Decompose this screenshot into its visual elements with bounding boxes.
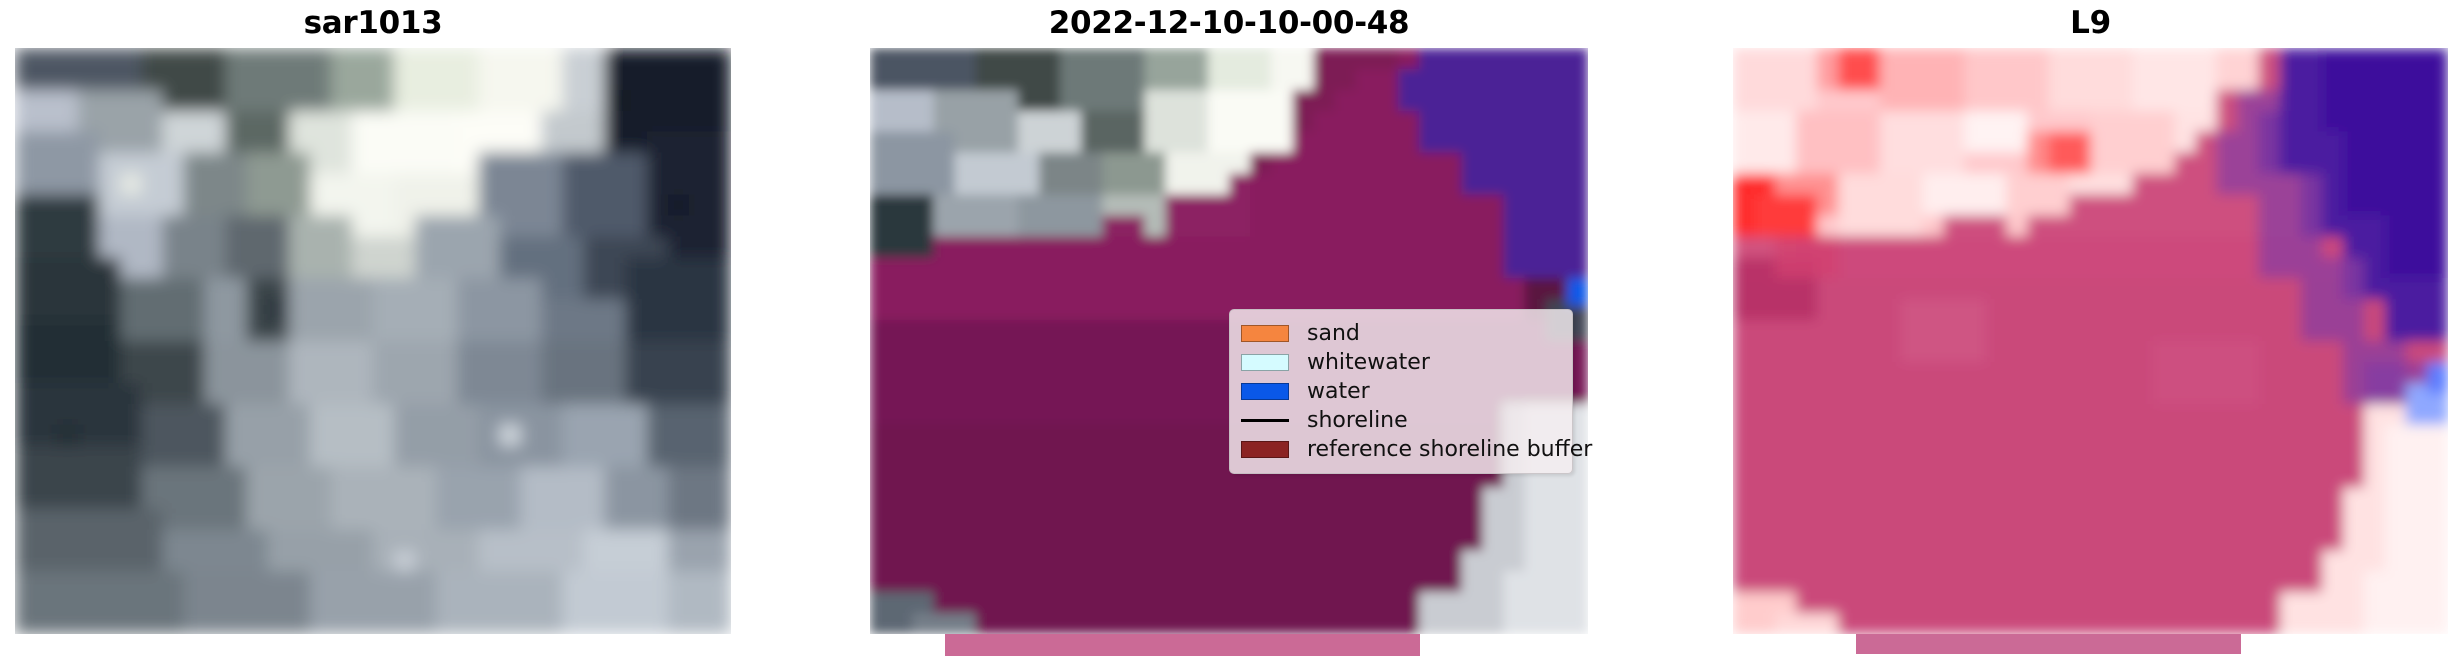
panel-classified: 2022-12-10-10-00-48 — [870, 0, 1588, 664]
panel-title-sar1013: sar1013 — [15, 5, 731, 41]
legend-label-reference-shoreline-buffer: reference shoreline buffer — [1307, 437, 1592, 463]
panel-l9: L9 — [1733, 0, 2448, 664]
reference-buffer-color-swatch — [1241, 441, 1289, 458]
legend-label-whitewater: whitewater — [1307, 350, 1430, 376]
legend-label-shoreline: shoreline — [1307, 408, 1408, 434]
reference-shoreline-buffer-band-l9 — [1856, 634, 2241, 654]
figure-root: sar1013 — [0, 0, 2460, 664]
legend-item-water[interactable]: water — [1241, 377, 1562, 406]
legend-item-whitewater[interactable]: whitewater — [1241, 348, 1562, 377]
sand-swatch-wrap — [1241, 325, 1307, 342]
panel-sar1013: sar1013 — [15, 0, 731, 664]
legend-item-sand[interactable]: sand — [1241, 319, 1562, 348]
shoreline-line-swatch — [1241, 419, 1289, 422]
panel-title-l9: L9 — [1733, 5, 2448, 41]
sand-color-swatch — [1241, 325, 1289, 342]
shoreline-swatch-wrap — [1241, 419, 1307, 422]
l9-raster — [1733, 48, 2448, 634]
sar-raster — [15, 48, 731, 634]
reference-shoreline-buffer-band — [945, 634, 1420, 656]
water-color-swatch — [1241, 383, 1289, 400]
whitewater-swatch-wrap — [1241, 354, 1307, 371]
legend-label-sand: sand — [1307, 321, 1360, 347]
legend-item-reference-shoreline-buffer[interactable]: reference shoreline buffer — [1241, 435, 1562, 464]
legend-item-shoreline[interactable]: shoreline — [1241, 406, 1562, 435]
image-l9 — [1733, 48, 2448, 648]
water-swatch-wrap — [1241, 383, 1307, 400]
panel-title-date: 2022-12-10-10-00-48 — [870, 5, 1588, 41]
legend: sand whitewater water shoreline — [1229, 309, 1573, 474]
image-sar1013 — [15, 48, 731, 634]
whitewater-color-swatch — [1241, 354, 1289, 371]
legend-label-water: water — [1307, 379, 1370, 405]
reference-buffer-swatch-wrap — [1241, 441, 1307, 458]
